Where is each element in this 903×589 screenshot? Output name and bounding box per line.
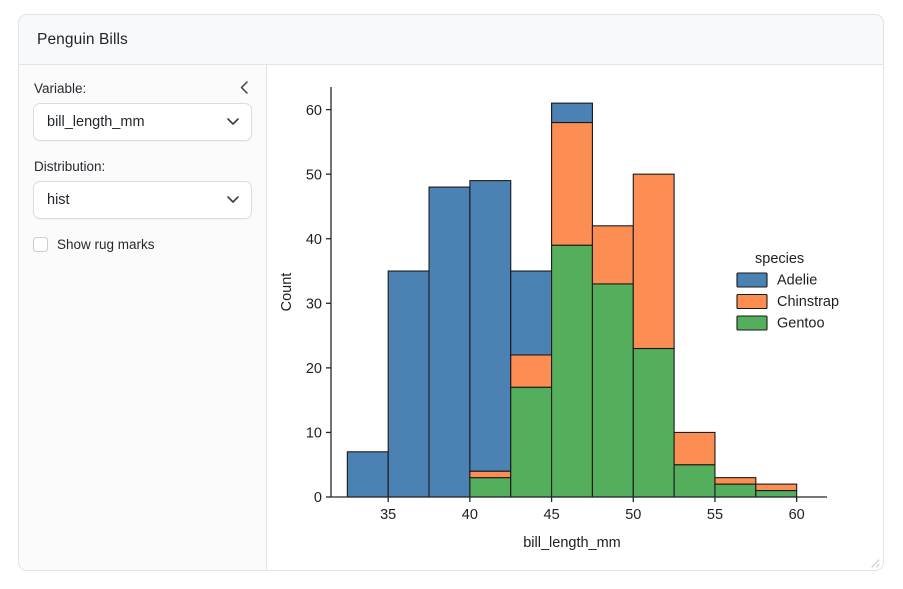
- card-header: Penguin Bills: [19, 15, 883, 65]
- histogram-bar[interactable]: [552, 245, 593, 497]
- variable-select[interactable]: bill_length_mm: [33, 103, 252, 141]
- histogram-bar[interactable]: [633, 174, 674, 348]
- collapse-sidebar-button[interactable]: [232, 75, 256, 99]
- histogram-bar[interactable]: [347, 452, 388, 497]
- x-tick-label: 40: [462, 507, 478, 523]
- chevron-down-icon: [226, 113, 240, 131]
- distribution-label: Distribution:: [34, 159, 252, 174]
- histogram-bar[interactable]: [511, 271, 552, 355]
- show-rug-marks-checkbox[interactable]: [33, 237, 48, 252]
- histogram-bar[interactable]: [715, 484, 756, 497]
- x-tick-label: 55: [707, 507, 723, 523]
- x-axis-label: bill_length_mm: [523, 535, 621, 551]
- legend-swatch[interactable]: [737, 295, 767, 309]
- histogram-bar[interactable]: [470, 181, 511, 472]
- legend: speciesAdelieChinstrapGentoo: [737, 251, 839, 332]
- y-axis-label: Count: [279, 273, 295, 312]
- card-body: Variable: bill_length_mm Distribution: h…: [19, 65, 883, 571]
- y-tick-label: 30: [306, 296, 322, 312]
- page-title: Penguin Bills: [37, 31, 128, 49]
- plot-pane: 0102030405060354045505560bill_length_mmC…: [267, 65, 883, 571]
- histogram-bar[interactable]: [674, 432, 715, 464]
- y-tick-label: 60: [306, 103, 322, 119]
- histogram-bar[interactable]: [756, 484, 797, 490]
- legend-label[interactable]: Gentoo: [777, 316, 825, 332]
- y-tick-label: 50: [306, 167, 322, 183]
- histogram-plot[interactable]: 0102030405060354045505560bill_length_mmC…: [267, 65, 883, 571]
- histogram-bar[interactable]: [429, 187, 470, 497]
- histogram-bar[interactable]: [633, 349, 674, 498]
- histogram-bar[interactable]: [511, 355, 552, 387]
- chevron-left-icon: [238, 80, 251, 95]
- x-tick-label: 50: [625, 507, 641, 523]
- histogram-bar[interactable]: [756, 491, 797, 497]
- show-rug-marks-row[interactable]: Show rug marks: [33, 237, 252, 252]
- x-tick-label: 45: [544, 507, 560, 523]
- y-tick-label: 20: [306, 361, 322, 377]
- distribution-select-value: hist: [47, 192, 70, 208]
- chevron-down-icon: [226, 191, 240, 209]
- legend-swatch[interactable]: [737, 316, 767, 330]
- legend-label[interactable]: Adelie: [777, 273, 817, 289]
- distribution-select[interactable]: hist: [33, 181, 252, 219]
- show-rug-marks-label: Show rug marks: [57, 237, 155, 252]
- y-tick-label: 10: [306, 426, 322, 442]
- histogram-bar[interactable]: [674, 465, 715, 497]
- histogram-bar[interactable]: [470, 478, 511, 497]
- histogram-bar[interactable]: [511, 387, 552, 497]
- variable-select-value: bill_length_mm: [47, 114, 145, 130]
- app-card: Penguin Bills Variable: bill_length_mm: [18, 14, 884, 571]
- histogram-bar[interactable]: [470, 471, 511, 477]
- sidebar: Variable: bill_length_mm Distribution: h…: [19, 65, 267, 571]
- histogram-bar[interactable]: [388, 271, 429, 497]
- histogram-bar[interactable]: [552, 123, 593, 246]
- resize-grip-icon[interactable]: [867, 555, 880, 568]
- histogram-bar[interactable]: [715, 478, 756, 484]
- legend-title: species: [755, 251, 804, 267]
- y-tick-label: 0: [314, 490, 322, 506]
- legend-label[interactable]: Chinstrap: [777, 294, 839, 310]
- y-tick-label: 40: [306, 232, 322, 248]
- histogram-bar[interactable]: [592, 284, 633, 497]
- histogram-bar[interactable]: [552, 103, 593, 122]
- legend-swatch[interactable]: [737, 273, 767, 287]
- variable-label: Variable:: [34, 81, 252, 96]
- histogram-bar[interactable]: [592, 226, 633, 284]
- x-tick-label: 35: [380, 507, 396, 523]
- x-tick-label: 60: [789, 507, 805, 523]
